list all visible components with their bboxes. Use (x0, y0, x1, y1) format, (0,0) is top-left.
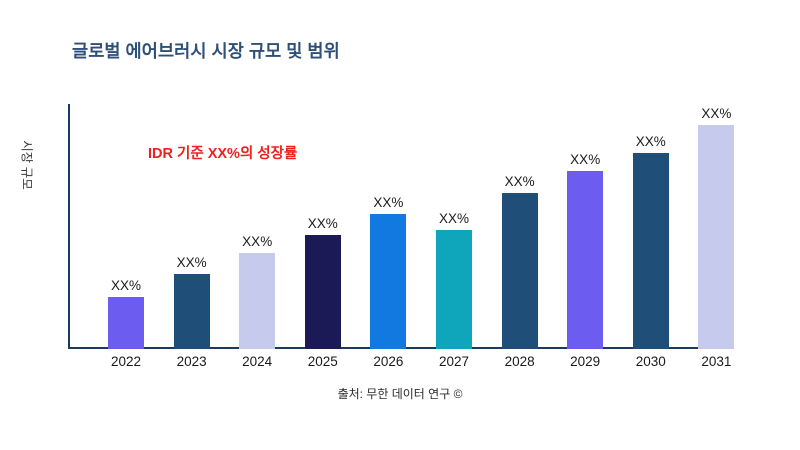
y-axis-label-container: 시장 규모 (0, 110, 56, 220)
chart-container: 글로벌 에어브러시 시장 규모 및 범위 시장 규모 XX%XX%XX%XX%X… (0, 0, 800, 450)
chart-title: 글로벌 에어브러시 시장 규모 및 범위 (72, 38, 340, 63)
x-axis-tick-2022: 2022 (108, 354, 144, 369)
x-axis-tick-2027: 2027 (436, 354, 472, 369)
bar[interactable] (567, 171, 603, 349)
bar-value-label: XX% (439, 212, 469, 226)
x-axis-tick-2031: 2031 (698, 354, 734, 369)
y-axis-label: 시장 규모 (19, 140, 38, 189)
x-axis-tick-2025: 2025 (305, 354, 341, 369)
bar[interactable] (305, 235, 341, 349)
bar-value-label: XX% (242, 235, 272, 249)
bar[interactable] (436, 230, 472, 349)
bar-value-label: XX% (177, 256, 207, 270)
bar-value-label: XX% (570, 153, 600, 167)
bar-value-label: XX% (308, 217, 338, 231)
bar[interactable] (370, 214, 406, 349)
bar-value-label: XX% (111, 279, 141, 293)
bar[interactable] (108, 297, 144, 349)
x-axis-tick-2028: 2028 (502, 354, 538, 369)
x-axis-tick-2023: 2023 (174, 354, 210, 369)
bar[interactable] (174, 274, 210, 349)
bar-value-label: XX% (373, 196, 403, 210)
x-axis-tick-2029: 2029 (567, 354, 603, 369)
source-caption: 출처: 무한 데이터 연구 © (0, 385, 800, 402)
bar[interactable] (502, 193, 538, 349)
bar[interactable] (633, 153, 669, 349)
bar-value-label: XX% (701, 107, 731, 121)
bars-layer: XX%XX%XX%XX%XX%XX%XX%XX%XX%XX% (68, 104, 780, 349)
bar-value-label: XX% (505, 175, 535, 189)
growth-rate-annotation: IDR 기준 XX%의 성장률 (148, 142, 297, 163)
x-axis-tick-2024: 2024 (239, 354, 275, 369)
x-axis-tick-labels: 2022202320242025202620272028202920302031 (68, 354, 780, 378)
bar[interactable] (239, 253, 275, 349)
x-axis-tick-2030: 2030 (633, 354, 669, 369)
bar[interactable] (698, 125, 734, 349)
x-axis-tick-2026: 2026 (370, 354, 406, 369)
bar-value-label: XX% (636, 135, 666, 149)
